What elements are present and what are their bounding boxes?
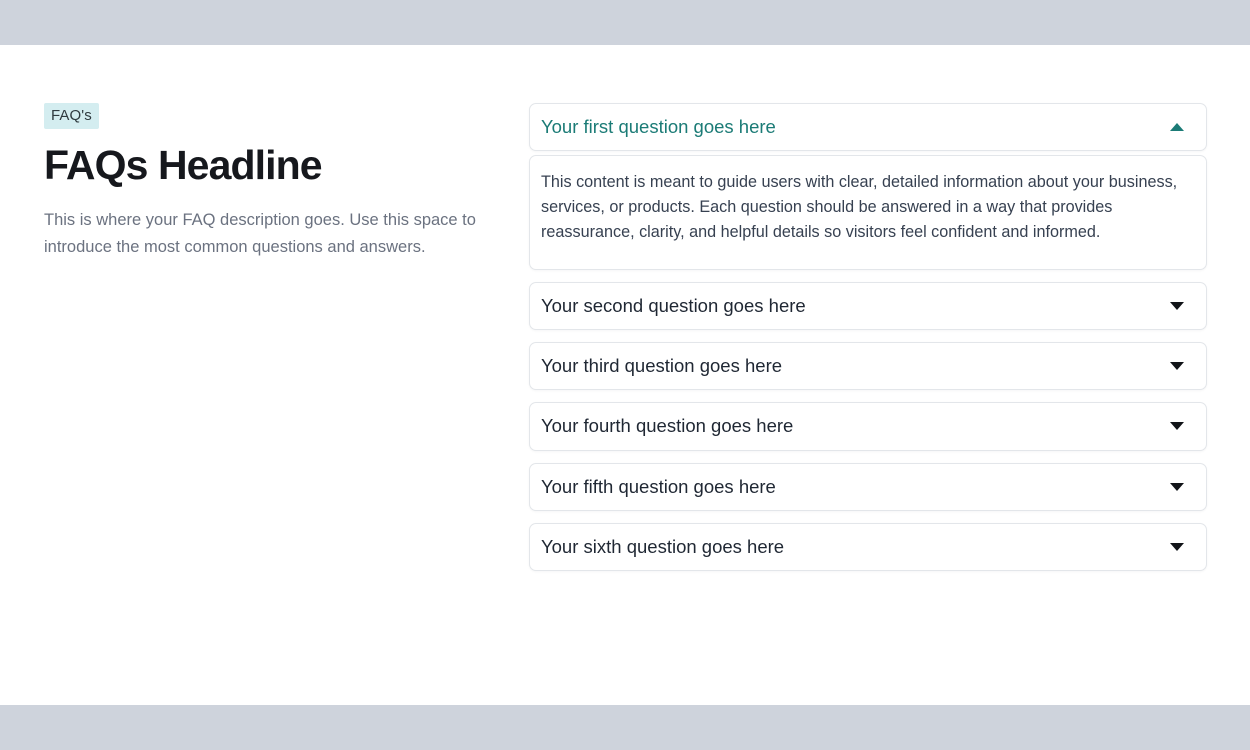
faq-item: Your fourth question goes here: [529, 402, 1207, 450]
faq-item: Your second question goes here: [529, 282, 1207, 330]
faq-question-label: Your second question goes here: [541, 294, 806, 318]
eyebrow-badge: FAQ's: [44, 103, 99, 129]
faq-item: Your sixth question goes here: [529, 523, 1207, 571]
faq-question-label: Your fourth question goes here: [541, 414, 793, 438]
caret-down-icon[interactable]: [1170, 483, 1184, 491]
faq-answer-text: This content is meant to guide users wit…: [541, 170, 1184, 245]
caret-down-icon[interactable]: [1170, 422, 1184, 430]
faq-intro-column: FAQ's FAQs Headline This is where your F…: [44, 103, 514, 261]
faq-item: Your third question goes here: [529, 342, 1207, 390]
page-title: FAQs Headline: [44, 143, 514, 187]
faq-question-label: Your first question goes here: [541, 115, 776, 139]
faq-header-toggle[interactable]: Your second question goes here: [529, 282, 1207, 330]
faq-header-toggle[interactable]: Your first question goes here: [529, 103, 1207, 151]
caret-down-icon[interactable]: [1170, 302, 1184, 310]
faq-header-toggle[interactable]: Your fourth question goes here: [529, 402, 1207, 450]
faq-header-toggle[interactable]: Your sixth question goes here: [529, 523, 1207, 571]
faq-header-toggle[interactable]: Your third question goes here: [529, 342, 1207, 390]
faq-accordion: Your first question goes here This conte…: [529, 103, 1207, 571]
caret-down-icon[interactable]: [1170, 543, 1184, 551]
faq-question-label: Your third question goes here: [541, 354, 782, 378]
faq-question-label: Your fifth question goes here: [541, 475, 776, 499]
faq-header-toggle[interactable]: Your fifth question goes here: [529, 463, 1207, 511]
faq-question-label: Your sixth question goes here: [541, 535, 784, 559]
caret-up-icon[interactable]: [1170, 123, 1184, 131]
faq-answer-panel: This content is meant to guide users wit…: [529, 155, 1207, 270]
faq-description: This is where your FAQ description goes.…: [44, 207, 514, 260]
faq-section: FAQ's FAQs Headline This is where your F…: [0, 45, 1250, 705]
top-chrome-bar: [0, 0, 1250, 45]
faq-item: Your first question goes here This conte…: [529, 103, 1207, 270]
caret-down-icon[interactable]: [1170, 362, 1184, 370]
page-canvas: FAQ's FAQs Headline This is where your F…: [0, 45, 1250, 705]
faq-item: Your fifth question goes here: [529, 463, 1207, 511]
bottom-chrome-bar: [0, 705, 1250, 750]
